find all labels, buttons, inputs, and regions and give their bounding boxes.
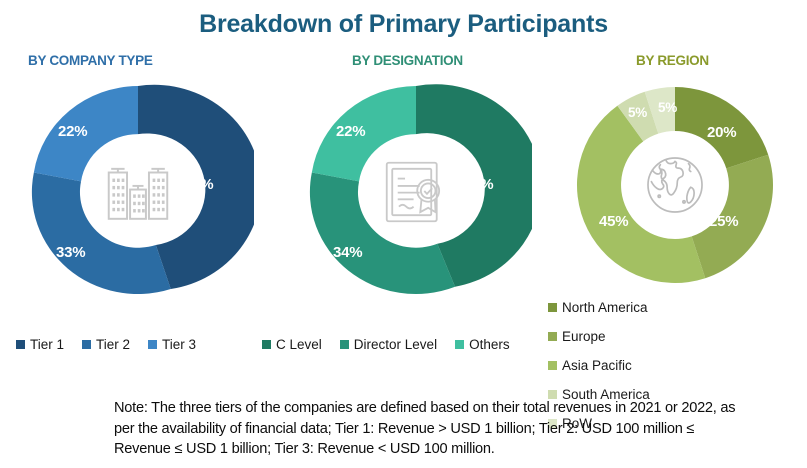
legend-item-tier-3[interactable]: Tier 3 bbox=[148, 337, 196, 352]
slice-label-others: 22% bbox=[336, 123, 365, 140]
legend-label: Asia Pacific bbox=[562, 358, 632, 373]
legend-company-type: Tier 1 Tier 2 Tier 3 bbox=[16, 337, 256, 361]
slice-label-row: 5% bbox=[658, 100, 677, 115]
legend-item-tier-1[interactable]: Tier 1 bbox=[16, 337, 64, 352]
slice-label-north-america: 20% bbox=[707, 124, 736, 141]
legend-label: Tier 2 bbox=[96, 337, 130, 352]
slice-label-tier-2: 33% bbox=[56, 244, 85, 261]
legend-swatch-icon bbox=[548, 332, 557, 341]
legend-swatch-icon bbox=[548, 303, 557, 312]
legend-swatch-icon bbox=[148, 340, 157, 349]
slice-label-c-level: 44% bbox=[464, 176, 493, 193]
legend-item-north-america[interactable]: North America bbox=[548, 300, 666, 315]
page-title: Breakdown of Primary Participants bbox=[0, 10, 807, 39]
footnote-text: Note: The three tiers of the companies a… bbox=[114, 398, 754, 460]
infographic-root: Breakdown of Primary Participants BY COM… bbox=[0, 0, 807, 468]
legend-label: Others bbox=[469, 337, 510, 352]
legend-item-asia-pacific[interactable]: Asia Pacific bbox=[548, 358, 666, 373]
legend-item-tier-2[interactable]: Tier 2 bbox=[82, 337, 130, 352]
legend-item-c-level[interactable]: C Level bbox=[262, 337, 322, 352]
chart-subtitle-designation: BY DESIGNATION bbox=[352, 53, 463, 68]
legend-label: North America bbox=[562, 300, 648, 315]
slice-label-asia-pacific: 45% bbox=[599, 213, 628, 230]
donut-svg-company-type bbox=[22, 80, 254, 304]
legend-label: C Level bbox=[276, 337, 322, 352]
legend-swatch-icon bbox=[548, 361, 557, 370]
donut-slice-tier-2 bbox=[32, 172, 171, 294]
slice-label-tier-1: 45% bbox=[184, 176, 213, 193]
slice-label-director-level: 34% bbox=[333, 244, 362, 261]
legend-label: Director Level bbox=[354, 337, 437, 352]
legend-swatch-icon bbox=[82, 340, 91, 349]
legend-designation: C Level Director Level Others bbox=[262, 337, 537, 361]
legend-label: Tier 1 bbox=[30, 337, 64, 352]
legend-label: Tier 3 bbox=[162, 337, 196, 352]
legend-item-others[interactable]: Others bbox=[455, 337, 510, 352]
legend-swatch-icon bbox=[262, 340, 271, 349]
slice-label-tier-3: 22% bbox=[58, 123, 87, 140]
chart-subtitle-region: BY REGION bbox=[636, 53, 709, 68]
legend-swatch-icon bbox=[455, 340, 464, 349]
donut-svg-designation bbox=[300, 80, 532, 304]
legend-item-europe[interactable]: Europe bbox=[548, 329, 666, 344]
legend-item-director-level[interactable]: Director Level bbox=[340, 337, 437, 352]
slice-label-south-america: 5% bbox=[628, 105, 647, 120]
chart-subtitle-company-type: BY COMPANY TYPE bbox=[28, 53, 153, 68]
donut-chart-designation: 44% 34% 22% bbox=[300, 80, 532, 304]
donut-chart-region: 20% 25% 45% 5% 5% bbox=[570, 80, 780, 290]
slice-label-europe: 25% bbox=[709, 213, 738, 230]
legend-label: Europe bbox=[562, 329, 606, 344]
donut-slice-director-level bbox=[310, 172, 455, 294]
donut-chart-company-type: 45% 33% 22% bbox=[22, 80, 254, 304]
legend-swatch-icon bbox=[16, 340, 25, 349]
legend-swatch-icon bbox=[340, 340, 349, 349]
